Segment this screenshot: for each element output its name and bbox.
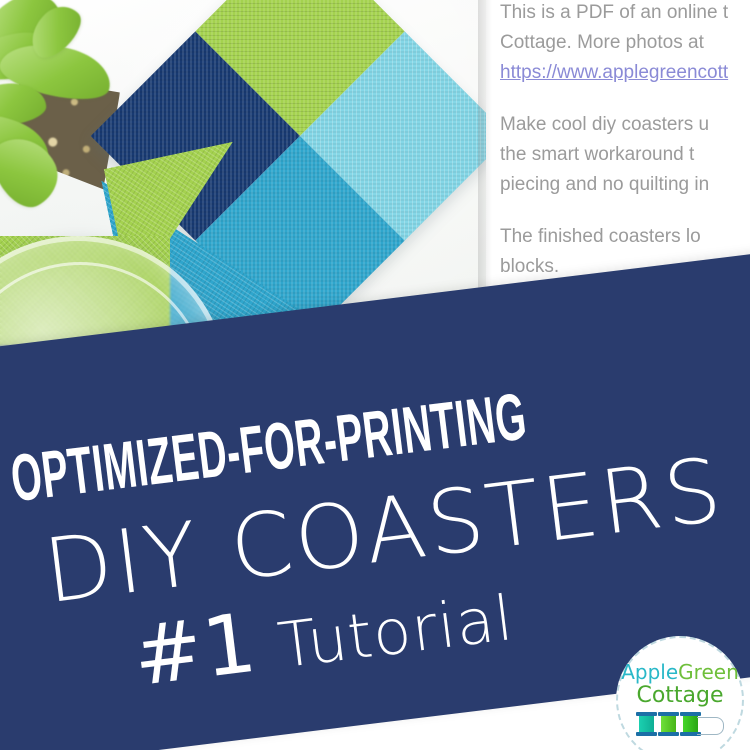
text-line: the smart workaround t (500, 144, 694, 165)
text-line: This is a PDF of an online t (500, 2, 728, 23)
text-line: Make cool diy coasters u (500, 114, 709, 135)
logo-word-green: Green (678, 660, 739, 684)
spool-icon (639, 713, 654, 735)
needle-icon (697, 717, 724, 735)
logo-word-apple: Apple (621, 660, 678, 684)
spool-icon (661, 713, 676, 735)
applegreen-cottage-link[interactable]: https://www.applegreencott (500, 58, 728, 88)
paragraph-intro: This is a PDF of an online t Cottage. Mo… (500, 0, 750, 88)
logo-word-cottage: Cottage (636, 683, 723, 709)
tutorial-cover-image: This is a PDF of an online t Cottage. Mo… (0, 0, 750, 750)
text-line: The finished coasters lo (500, 226, 701, 247)
text-line: Cottage. More photos at (500, 32, 704, 53)
logo-wordmark-top: AppleGreen (621, 661, 739, 683)
paragraph-make: Make cool diy coasters u the smart worka… (500, 110, 750, 200)
text-line: piecing and no quilting in (500, 174, 709, 195)
banner-subtitle: Tutorial (274, 581, 517, 682)
banner-number: #1 (128, 596, 262, 705)
spool-icon (683, 713, 698, 735)
text-line: blocks. (500, 256, 559, 277)
thread-spools-icon (637, 713, 723, 739)
